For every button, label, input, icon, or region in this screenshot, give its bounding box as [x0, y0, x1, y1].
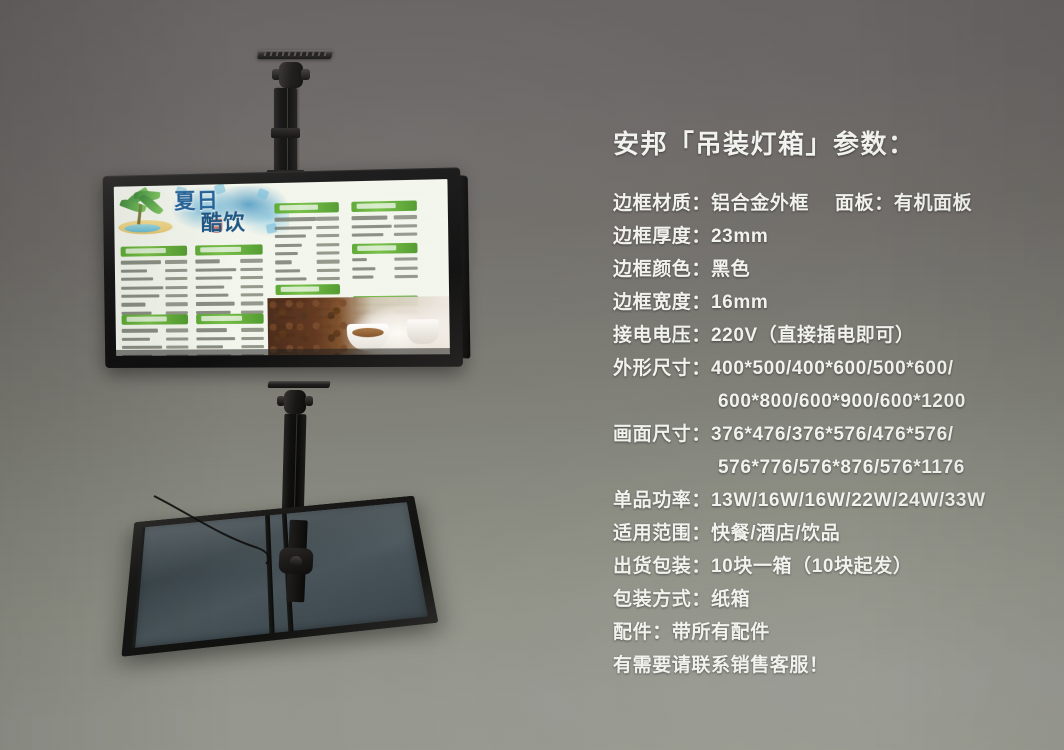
menu-item-row [196, 335, 264, 342]
spec-row: 单品功率：13W/16W/16W/22W/24W/33W [613, 484, 1043, 517]
swivel-knuckle [279, 62, 303, 88]
menu-item-row [195, 258, 263, 265]
spec-label: 单品功率： [613, 490, 711, 511]
coffee-cup-icon [347, 324, 389, 351]
spec-value: 10块一箱（10块起发） [711, 556, 912, 577]
menu-section [352, 243, 418, 281]
spec-value: 13W/16W/16W/22W/24W/33W [711, 490, 986, 511]
spec-row: 包装方式：纸箱 [613, 583, 1043, 616]
pole-collar [271, 128, 300, 138]
spec-value: 23mm [711, 226, 768, 247]
menu-item-row [121, 284, 187, 291]
menu-item-row [122, 336, 188, 342]
menu-section-header [121, 246, 188, 257]
menu-item-row [275, 267, 340, 274]
spec-row: 外形尺寸：400*500/400*600/500*600/ [613, 352, 1043, 385]
menu-item-row [352, 256, 418, 263]
menu-section [195, 244, 264, 324]
rear-bracket-hub [278, 547, 313, 575]
spec-label: 边框宽度： [613, 292, 711, 313]
swivel-bolt-right [301, 69, 310, 80]
menu-headline-line1: 夏日 [174, 189, 219, 213]
menu-section [351, 200, 417, 238]
spec-list: 边框材质：铝合金外框面板：有机面板边框厚度：23mm边框颜色：黑色边框宽度：16… [613, 187, 1043, 649]
menu-item-row [121, 276, 187, 283]
spec-value: 带所有配件 [672, 622, 770, 643]
menu-item-row [196, 292, 264, 299]
menu-section-header [352, 243, 418, 254]
menu-section-header [351, 200, 417, 212]
spec-value: 纸箱 [711, 589, 750, 610]
menu-item-row [275, 250, 340, 257]
spec-value-secondary: 有机面板 [894, 193, 972, 214]
coffee-cup-icon [407, 319, 439, 344]
spec-row: 边框宽度：16mm [613, 286, 1043, 319]
spec-label: 画面尺寸： [613, 424, 711, 445]
menu-item-row [121, 293, 187, 300]
lightbox-rear-panel [121, 496, 438, 657]
menu-item-row [275, 276, 340, 283]
spec-label: 外形尺寸： [613, 358, 711, 379]
menu-item-row [121, 301, 187, 308]
spec-value: 16mm [711, 292, 768, 313]
swivel-bolt-right [305, 396, 313, 406]
coffee-photo [267, 296, 450, 355]
spec-label: 接电电压： [613, 325, 711, 346]
menu-section-header [274, 202, 339, 214]
spec-label: 配件： [613, 622, 672, 643]
menu-section-header [196, 314, 264, 325]
menu-item-row [196, 300, 264, 307]
menu-item-row [275, 215, 340, 222]
spec-value: 铝合金外框 [711, 193, 809, 214]
coffee-beans-image [267, 297, 347, 355]
spec-value: 400*500/400*600/500*600/ [711, 358, 954, 379]
menu-item-row [121, 267, 187, 274]
menu-item-row [196, 327, 264, 334]
menu-hero-graphic: 夏日 酷饮 [114, 183, 290, 243]
menu-headline: 夏日 酷饮 [174, 189, 289, 238]
menu-item-row [196, 283, 264, 290]
menu-lightbox: 夏日 酷饮 [103, 167, 463, 368]
menu-item-row [352, 214, 418, 221]
menu-item-row [275, 233, 340, 240]
spec-row: 适用范围：快餐/酒店/饮品 [613, 517, 1043, 550]
menu-item-row [122, 327, 188, 334]
menu-column-5 [274, 202, 340, 288]
menu-item-row [352, 265, 418, 272]
lightbox-menu-panel: 夏日 酷饮 [114, 179, 450, 356]
menu-section [274, 202, 340, 282]
menu-item-row [352, 231, 418, 238]
spec-label: 边框厚度： [613, 226, 711, 247]
spec-value: 快餐/酒店/饮品 [711, 523, 840, 544]
menu-item-row [121, 259, 187, 266]
menu-item-row [275, 241, 340, 248]
spec-label: 边框材质： [613, 193, 711, 214]
spec-title: 安邦「吊装灯箱」参数： [613, 124, 1043, 161]
spec-closing: 有需要请联系销售客服！ [613, 649, 1043, 682]
menu-column-6 [351, 200, 418, 285]
spec-row: 边框材质：铝合金外框面板：有机面板 [613, 187, 1043, 220]
spec-row: 边框厚度：23mm [613, 220, 1043, 253]
spec-label: 包装方式： [613, 589, 711, 610]
spec-label-secondary: 面板： [835, 193, 894, 214]
spec-value: 220V（直接插电即可） [711, 325, 915, 346]
palm-tree-icon [118, 189, 181, 236]
spec-value: 黑色 [711, 259, 750, 280]
menu-section-header [276, 284, 341, 295]
menu-item-row [275, 258, 340, 265]
menu-item-row [195, 266, 263, 273]
menu-item-row [196, 275, 264, 282]
menu-section-header [195, 244, 263, 255]
upper-swivel-joint [272, 58, 310, 92]
mounting-plate-holes [264, 52, 327, 56]
product-photo-page: 夏日 酷饮 [0, 0, 1064, 750]
spec-row: 边框颜色：黑色 [613, 253, 1043, 286]
spec-panel: 安邦「吊装灯箱」参数： 边框材质：铝合金外框面板：有机面板边框厚度：23mm边框… [613, 124, 1043, 682]
spec-value: 376*476/376*576/476*576/ [711, 424, 954, 445]
spec-label: 适用范围： [613, 523, 711, 544]
spec-value-continuation: 600*800/600*900/600*1200 [613, 385, 1043, 418]
menu-item-row [352, 273, 418, 280]
menu-section [121, 246, 188, 325]
menu-section-header [122, 314, 189, 325]
spec-label: 边框颜色： [613, 259, 711, 280]
spec-value-continuation: 576*776/576*876/576*1176 [613, 451, 1043, 484]
menu-item-row [352, 223, 418, 230]
spec-row: 配件：带所有配件 [613, 616, 1043, 649]
swivel-knuckle [284, 390, 306, 414]
spec-row: 画面尺寸：376*476/376*576/476*576/ [613, 418, 1043, 451]
menu-item-row [275, 224, 340, 231]
spec-row: 接电电压：220V（直接插电即可） [613, 319, 1043, 352]
spec-label: 出货包装： [613, 556, 711, 577]
spec-row: 出货包装：10块一箱（10块起发） [613, 550, 1043, 583]
lower-swivel-joint [277, 387, 313, 417]
